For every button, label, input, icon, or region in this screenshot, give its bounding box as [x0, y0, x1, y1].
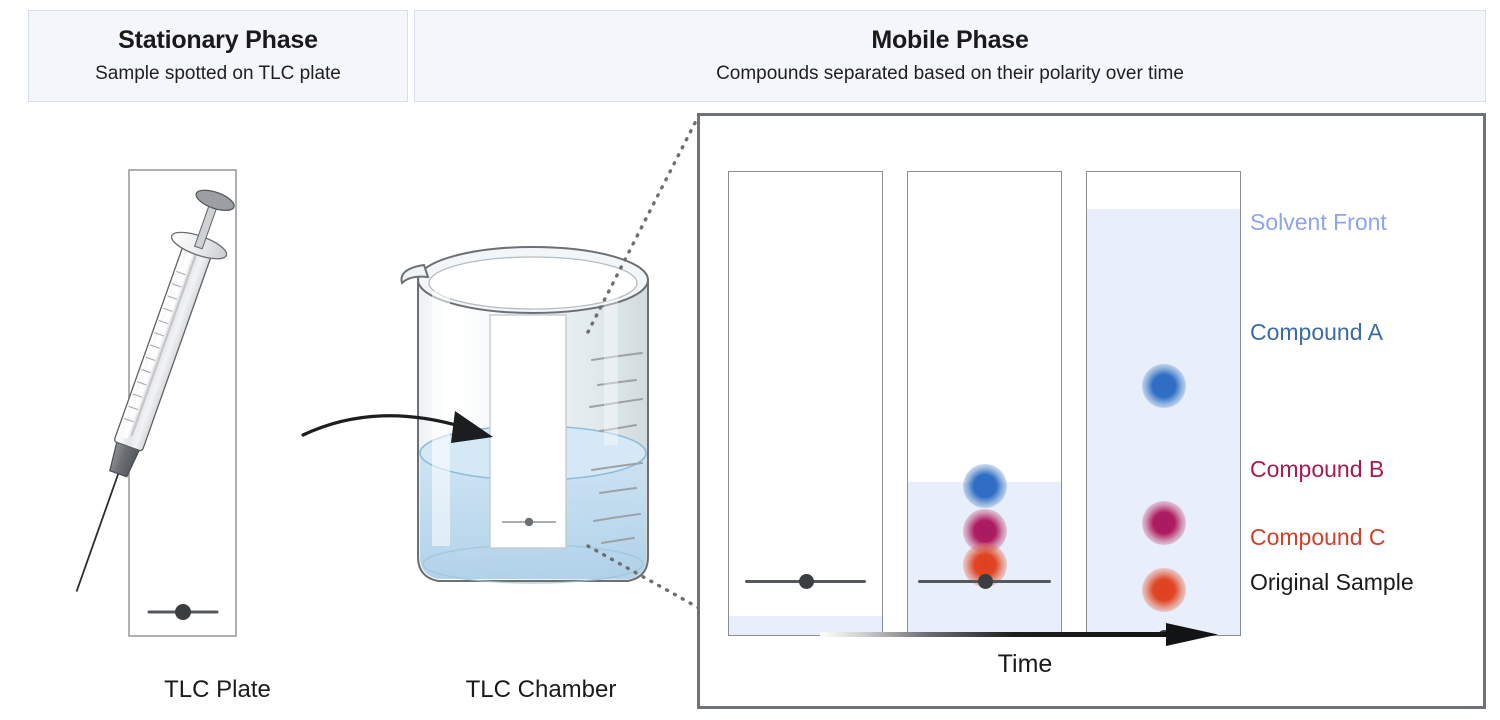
syringe-body-group: [60, 183, 245, 601]
zoom-connector-top: [588, 115, 699, 332]
mobile-phase-panel: Solvent Front Compound A Compound B Comp…: [697, 113, 1486, 709]
syringe-needle: [77, 474, 119, 592]
label-compound-c: Compound C: [1250, 526, 1386, 549]
beaker-inner-plate-spot: [525, 518, 533, 526]
time-axis-line: [820, 632, 1172, 637]
zoom-connector-bottom: [588, 546, 699, 608]
time-axis-label: Time: [820, 650, 1230, 679]
transfer-arrow-shaft: [303, 416, 463, 435]
header-stationary-phase: Stationary Phase Sample spotted on TLC p…: [28, 10, 408, 102]
spot-compound-a-stage-3: [1142, 364, 1186, 408]
stationary-phase-subtitle: Sample spotted on TLC plate: [95, 64, 341, 85]
syringe-plunger-shaft-inner: [132, 253, 197, 436]
label-compound-a: Compound A: [1250, 321, 1383, 344]
syringe-illustration: [60, 150, 310, 650]
caption-tlc-plate: TLC Plate: [90, 678, 345, 702]
transfer-arrow-head: [451, 411, 493, 443]
tlc-plate-stage-1[interactable]: [728, 171, 883, 636]
label-compound-b: Compound B: [1250, 458, 1384, 481]
tlc-plate-stage-2[interactable]: [907, 171, 1062, 636]
mobile-phase-title: Mobile Phase: [871, 27, 1028, 55]
time-axis-arrowhead: [1166, 623, 1218, 646]
caption-tlc-chamber: TLC Chamber: [405, 678, 677, 702]
diagram-canvas: Stationary Phase Sample spotted on TLC p…: [0, 0, 1500, 720]
origin-spot-stage-2: [978, 574, 993, 589]
header-mobile-phase: Mobile Phase Compounds separated based o…: [414, 10, 1486, 102]
stationary-phase-title: Stationary Phase: [118, 27, 318, 55]
spot-compound-b-stage-3: [1142, 501, 1186, 545]
mobile-phase-subtitle: Compounds separated based on their polar…: [716, 64, 1184, 85]
spot-compound-a-stage-2: [963, 464, 1007, 508]
label-original-sample: Original Sample: [1250, 571, 1414, 594]
origin-spot-stage-1: [799, 574, 814, 589]
label-solvent-front: Solvent Front: [1250, 211, 1387, 234]
syringe-barrel-highlight: [122, 248, 194, 439]
tlc-plate-stage-3[interactable]: [1086, 171, 1241, 636]
spot-compound-c-stage-3: [1142, 568, 1186, 612]
transfer-arrow: [295, 385, 525, 465]
